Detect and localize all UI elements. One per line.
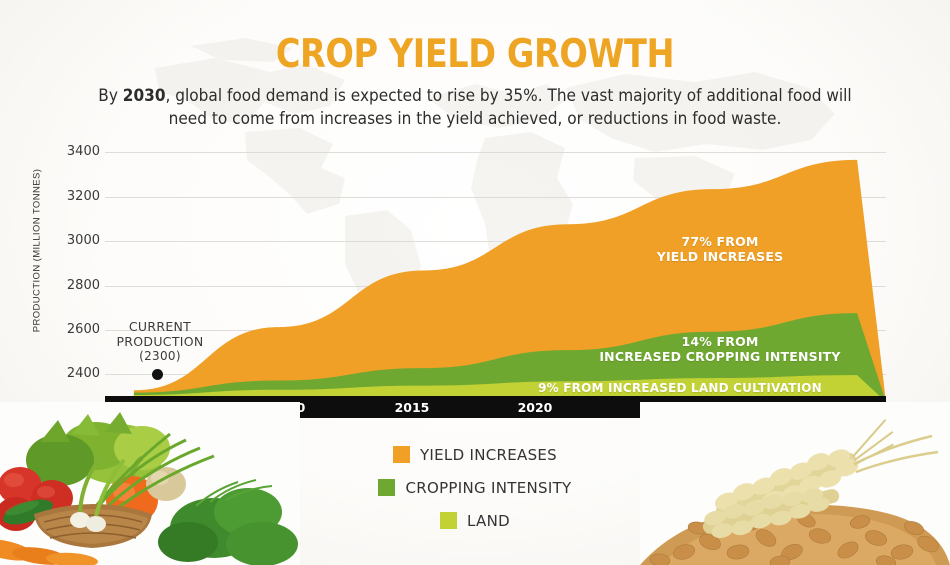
- y-tick-label: 2400: [52, 366, 100, 381]
- legend-label: LAND: [467, 512, 510, 530]
- y-tick-label: 3000: [52, 233, 100, 248]
- y-tick-label: 3400: [52, 144, 100, 159]
- y-axis-ticks: 3400 3200 3000 2800 2600 2400: [52, 0, 100, 430]
- x-axis-bar: 2005 2010 2015 2020 2025 2030: [105, 396, 886, 418]
- y-tick-label: 2800: [52, 278, 100, 293]
- annotation-yield-line1: 77% FROM: [560, 234, 880, 249]
- y-axis-title: PRODUCTION (MILLION TONNES): [32, 151, 43, 351]
- x-tick-2005: 2005: [135, 400, 195, 415]
- current-production-line2: PRODUCTION: [95, 334, 225, 349]
- y-tick-label: 2600: [52, 322, 100, 337]
- x-tick-2030: 2030: [753, 400, 813, 415]
- x-tick-2025: 2025: [629, 400, 689, 415]
- legend-item-land[interactable]: LAND: [0, 504, 950, 537]
- y-tick-label: 3200: [52, 189, 100, 204]
- current-production-value: (2300): [95, 349, 225, 364]
- chart-legend: YIELD INCREASES CROPPING INTENSITY LAND: [0, 438, 950, 537]
- legend-swatch-icon: [378, 479, 395, 496]
- current-production-marker: [152, 369, 163, 380]
- legend-swatch-icon: [440, 512, 457, 529]
- x-tick-2010: 2010: [258, 400, 318, 415]
- current-production-label: CURRENT PRODUCTION (2300): [95, 319, 225, 364]
- annotation-cropping: 14% FROM INCREASED CROPPING INTENSITY: [560, 334, 880, 364]
- chart: PRODUCTION (MILLION TONNES) 3400 3200 30…: [0, 0, 950, 430]
- x-tick-2020: 2020: [505, 400, 565, 415]
- x-tick-2015: 2015: [382, 400, 442, 415]
- annotation-cropping-line1: 14% FROM: [560, 334, 880, 349]
- legend-item-cropping-intensity[interactable]: CROPPING INTENSITY: [0, 471, 950, 504]
- legend-item-yield-increases[interactable]: YIELD INCREASES: [0, 438, 950, 471]
- annotation-yield: 77% FROM YIELD INCREASES: [560, 234, 880, 264]
- current-production-line1: CURRENT: [95, 319, 225, 334]
- legend-label: YIELD INCREASES: [420, 446, 557, 464]
- legend-swatch-icon: [393, 446, 410, 463]
- legend-label: CROPPING INTENSITY: [405, 479, 571, 497]
- annotation-land: 9% FROM INCREASED LAND CULTIVATION: [480, 381, 880, 396]
- annotation-cropping-line2: INCREASED CROPPING INTENSITY: [560, 349, 880, 364]
- infographic-canvas: CROP YIELD GROWTH By 2030, global food d…: [0, 0, 950, 565]
- annotation-yield-line2: YIELD INCREASES: [560, 249, 880, 264]
